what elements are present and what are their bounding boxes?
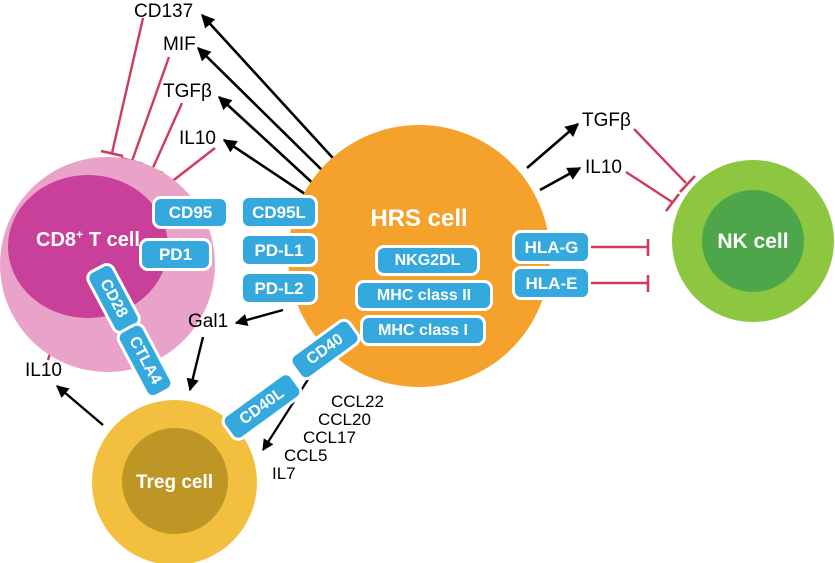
figure-canvas: CD8+ T cell HRS cell NK cell Treg cell C… bbox=[0, 0, 835, 563]
cell-nk[interactable]: NK cell bbox=[672, 160, 834, 322]
label-il10-left: IL10 bbox=[179, 128, 216, 150]
arrow-hrs-to-il10-right bbox=[540, 168, 580, 190]
arrow-treg-to-il10 bbox=[57, 386, 103, 425]
receptor-cd95l[interactable]: CD95L bbox=[240, 195, 318, 229]
cd8-label-tail: T cell bbox=[83, 229, 140, 251]
receptor-hla-e[interactable]: HLA-E bbox=[512, 266, 591, 300]
label-tgfb-right: TGFβ bbox=[582, 110, 631, 132]
label-ccl20: CCL20 bbox=[318, 410, 371, 430]
cd8-label-main: CD8 bbox=[36, 229, 76, 251]
label-ccl17: CCL17 bbox=[303, 428, 356, 448]
label-gal1: Gal1 bbox=[188, 311, 228, 333]
label-il10-treg: IL10 bbox=[25, 360, 62, 382]
receptor-hla-g[interactable]: HLA-G bbox=[512, 230, 591, 264]
inhibit-tgfb-to-cd8 bbox=[141, 103, 182, 173]
label-il10-right: IL10 bbox=[585, 157, 622, 179]
arrow-hrs-to-tgfb-left bbox=[219, 97, 318, 188]
arrow-hrs-to-tgfb-right bbox=[527, 124, 578, 168]
molecule-nkg2dl[interactable]: NKG2DL bbox=[375, 245, 480, 276]
label-tgfb-left: TGFβ bbox=[163, 81, 212, 103]
arrow-gal1-to-treg bbox=[190, 337, 203, 390]
receptor-pd1[interactable]: PD1 bbox=[139, 238, 212, 271]
label-ccl5: CCL5 bbox=[284, 446, 327, 466]
label-cd137: CD137 bbox=[134, 1, 193, 23]
cell-treg-label: Treg cell bbox=[92, 472, 257, 494]
cell-hrs-label: HRS cell bbox=[288, 205, 550, 233]
label-ccl22: CCL22 bbox=[331, 392, 384, 412]
inhibit-il10-to-nk bbox=[626, 172, 679, 211]
arrow-hrs-to-mif bbox=[198, 48, 330, 178]
receptor-cd95[interactable]: CD95 bbox=[152, 196, 229, 229]
arrow-hrs-to-gal1 bbox=[236, 310, 283, 323]
cell-nk-label: NK cell bbox=[672, 230, 834, 254]
inhibit-cd137-to-cd8 bbox=[101, 18, 143, 156]
molecule-mhc-class-i[interactable]: MHC class I bbox=[360, 315, 486, 346]
label-il7: IL7 bbox=[272, 464, 296, 484]
label-mif-left: MIF bbox=[163, 34, 196, 56]
molecule-mhc-class-ii[interactable]: MHC class II bbox=[355, 280, 493, 311]
receptor-pd-l1[interactable]: PD-L1 bbox=[240, 233, 318, 267]
receptor-pd-l2[interactable]: PD-L2 bbox=[240, 271, 318, 305]
